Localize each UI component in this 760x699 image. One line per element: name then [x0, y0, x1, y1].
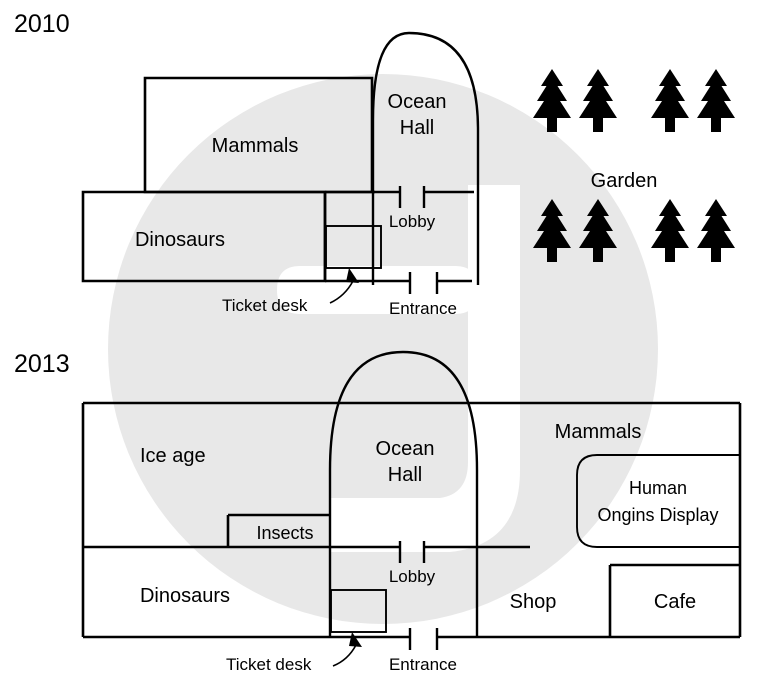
room-label-mammals-2013: Mammals [555, 421, 642, 443]
room-label-dinosaurs-2013: Dinosaurs [140, 585, 230, 607]
room-label-cafe-2013: Cafe [654, 591, 696, 613]
feature-label-ticket-desk-2013: Ticket desk [226, 655, 312, 674]
feature-label-entrance-2013: Entrance [389, 655, 457, 674]
museum-floor-plan-diagram: 2010 Mammals Dinosaurs Lobby Entrance [0, 0, 760, 699]
tree-icon [651, 199, 689, 262]
room-label-human-origins-line1: Human [629, 478, 687, 498]
room-label-shop-2013: Shop [510, 591, 557, 613]
feature-label-entrance-2010: Entrance [389, 299, 457, 318]
tree-icon [579, 69, 617, 132]
tree-icon [697, 69, 735, 132]
tree-cluster-top-left [533, 69, 617, 132]
room-label-mammals-2010: Mammals [212, 135, 299, 157]
room-ocean-hall-2013[interactable] [330, 352, 477, 637]
room-label-dinosaurs-2010: Dinosaurs [135, 229, 225, 251]
garden-label-2010: Garden [591, 170, 658, 192]
feature-label-ticket-desk-2010: Ticket desk [222, 296, 308, 315]
room-label-ocean-hall-2013-line2: Hall [388, 464, 422, 486]
room-label-human-origins-line2: Ongins Display [597, 505, 718, 525]
tree-icon [651, 69, 689, 132]
room-label-ocean-hall-2010-line1: Ocean [388, 91, 447, 113]
ticket-desk-leader-2013 [333, 645, 356, 666]
tree-icon [697, 199, 735, 262]
room-label-ice-age-2013: Ice age [140, 445, 206, 467]
room-label-ocean-hall-2010-line2: Hall [400, 117, 434, 139]
room-label-insects-2013: Insects [256, 523, 313, 543]
floor-plan-canvas: 2010 Mammals Dinosaurs Lobby Entrance [0, 0, 760, 699]
tree-cluster-top-right [651, 69, 735, 132]
year-label-2010: 2010 [14, 10, 70, 38]
room-label-ocean-hall-2013-line1: Ocean [376, 438, 435, 460]
tree-cluster-bottom-right [651, 199, 735, 262]
year-label-2013: 2013 [14, 350, 70, 378]
room-ocean-hall-2010[interactable] [373, 33, 478, 285]
